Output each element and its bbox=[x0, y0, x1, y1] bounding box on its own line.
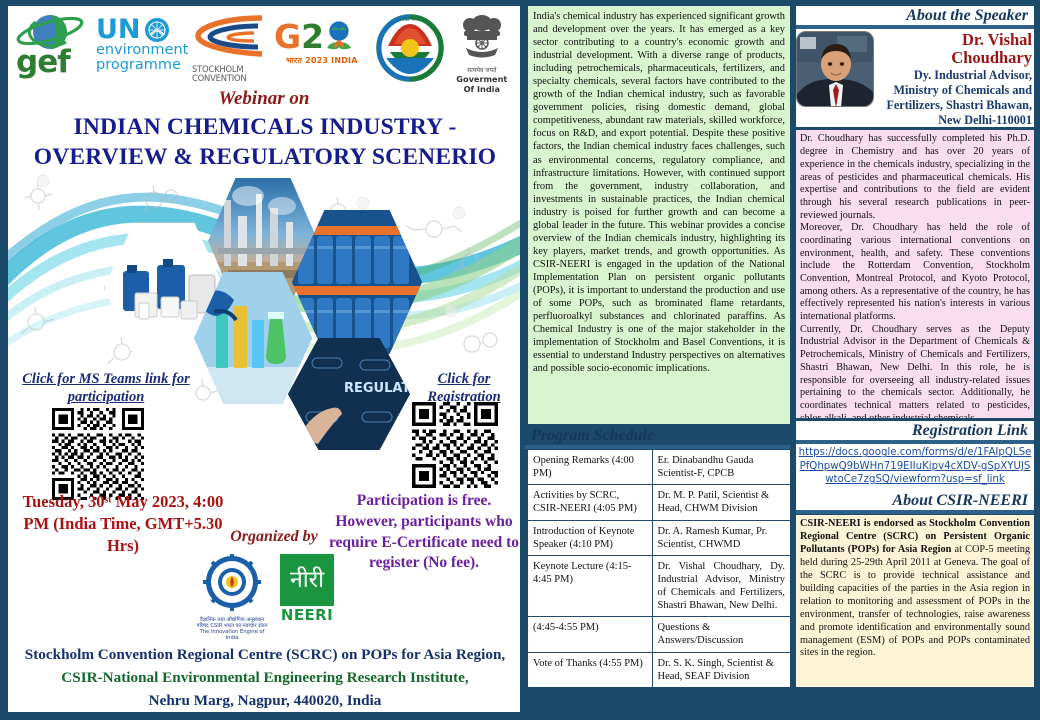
ministry-circular-emblem-icon: स्वच्छ भारत bbox=[374, 12, 446, 86]
program-schedule-table: Opening Remarks (4:00 PM) Er. Dinabandhu… bbox=[528, 450, 790, 687]
about-csir-neeri-heading: About CSIR-NEERI bbox=[796, 491, 1034, 513]
middle-column: India's chemical industry has experience… bbox=[528, 6, 790, 712]
un-emblem-icon bbox=[144, 17, 170, 43]
page-title: INDIAN CHEMICALS INDUSTRY - OVERVIEW & R… bbox=[26, 112, 504, 172]
schedule-time: Keynote Lecture (4:15-4:45 PM) bbox=[528, 555, 652, 617]
dot-icon bbox=[452, 206, 466, 220]
table-row: Activities by SCRC, CSIR-NEERI (4:05 PM)… bbox=[528, 485, 790, 520]
table-row: Introduction of Keynote Speaker (4:10 PM… bbox=[528, 520, 790, 555]
schedule-speaker: Questions & Answers/Discussion bbox=[652, 617, 790, 652]
unep-line3: programme bbox=[96, 58, 188, 73]
webinar-poster: gef UN environment programme bbox=[0, 0, 1040, 720]
left-panel: gef UN environment programme bbox=[8, 6, 520, 712]
speaker-role-3: Fertilizers, Shastri Bhawan, bbox=[880, 98, 1032, 113]
csir-gear-emblem-icon bbox=[198, 554, 266, 612]
stockholm-swirl-icon bbox=[192, 14, 270, 60]
address-line-2: CSIR-National Environmental Engineering … bbox=[22, 667, 508, 690]
schedule-time: Opening Remarks (4:00 PM) bbox=[528, 450, 652, 485]
g20-lotus-icon bbox=[321, 18, 357, 54]
schedule-speaker: Dr. Vishal Choudhary, Dy. Industrial Adv… bbox=[652, 555, 790, 617]
speaker-bio-paragraph-1: Dr. Choudhary has successfully completed… bbox=[800, 133, 1030, 222]
table-row: (4:45-4:55 PM) Questions & Answers/Discu… bbox=[528, 617, 790, 652]
speaker-header-block: Dr. Vishal Choudhary Dy. Industrial Advi… bbox=[796, 28, 1034, 127]
unep-logo: UN environment programme bbox=[96, 10, 188, 86]
schedule-time: Introduction of Keynote Speaker (4:10 PM… bbox=[528, 520, 652, 555]
speaker-bio-paragraph-3: Currently, Dr. Choudhary serves as the D… bbox=[800, 324, 1030, 419]
svg-text:REGULATION: REGULATION bbox=[344, 381, 410, 396]
schedule-speaker: Dr. A. Ramesh Kumar, Pr. Scientist, CHWM… bbox=[652, 520, 790, 555]
address-line-3: Nehru Marg, Nagpur, 440020, India bbox=[22, 690, 508, 712]
gef-wordmark: gef bbox=[16, 44, 70, 80]
about-speaker-heading: About the Speaker bbox=[796, 6, 1034, 28]
qr-code-registration[interactable] bbox=[412, 402, 498, 493]
table-row: Opening Remarks (4:00 PM) Er. Dinabandhu… bbox=[528, 450, 790, 485]
about-industry-text: India's chemical industry has experience… bbox=[528, 6, 790, 424]
ashoka-lion-capital-icon bbox=[456, 12, 508, 66]
schedule-time: (4:45-4:55 PM) bbox=[528, 617, 652, 652]
speaker-role-2: Ministry of Chemicals and bbox=[880, 83, 1032, 98]
logo-row: gef UN environment programme bbox=[14, 10, 514, 92]
stockholm-line2: CONVENTION bbox=[192, 74, 270, 83]
speaker-bio-paragraph-2: Moreover, Dr. Choudhary has held the rol… bbox=[800, 222, 1030, 324]
speaker-biography: Dr. Choudhary has successfully completed… bbox=[796, 130, 1034, 418]
schedule-speaker: Dr. M. P. Patil, Scientist & Head, CHWM … bbox=[652, 485, 790, 520]
speaker-role-4: New Delhi-110001 bbox=[880, 113, 1032, 128]
speaker-role-1: Dy. Industrial Advisor, bbox=[880, 68, 1032, 83]
program-schedule-header: Program Schedule bbox=[525, 426, 790, 448]
unep-un-text: UN bbox=[96, 16, 141, 43]
schedule-speaker: Dr. S. K. Singh, Scientist & Head, SEAF … bbox=[652, 652, 790, 687]
molecule-doodle-icon bbox=[456, 326, 506, 364]
g20-logo: G2 भारत 2023 INDIA bbox=[274, 10, 370, 84]
address-line-1: Stockholm Convention Regional Centre (SC… bbox=[22, 644, 508, 667]
ministry-emblem-logo: स्वच्छ भारत bbox=[374, 10, 446, 86]
speaker-photo bbox=[796, 31, 874, 107]
image-collage: REGULATION bbox=[104, 182, 434, 402]
ms-teams-link[interactable]: Click for MS Teams link for participatio… bbox=[22, 370, 190, 406]
organizer-address: Stockholm Convention Regional Centre (SC… bbox=[22, 644, 508, 712]
table-row: Vote of Thanks (4:55 PM) Dr. S. K. Singh… bbox=[528, 652, 790, 687]
neeri-logo: नीरी NEERI bbox=[276, 554, 338, 624]
g20-subtext: भारत 2023 INDIA bbox=[274, 55, 370, 66]
table-row: Keynote Lecture (4:15-4:45 PM) Dr. Visha… bbox=[528, 555, 790, 617]
event-date-time: Tuesday, 30ˢᵗ May 2023, 4:00 PM (India T… bbox=[20, 491, 226, 557]
organized-by-label: Organized by bbox=[186, 528, 362, 546]
registration-link-label[interactable]: Click for Registration bbox=[412, 370, 516, 406]
schedule-time: Vote of Thanks (4:55 PM) bbox=[528, 652, 652, 687]
csir-caption: वैज्ञानिक तथा औद्योगिक अनुसंधान परिषद CS… bbox=[196, 618, 268, 642]
schedule-time: Activities by SCRC, CSIR-NEERI (4:05 PM) bbox=[528, 485, 652, 520]
speaker-details: Dr. Vishal Choudhary Dy. Industrial Advi… bbox=[880, 31, 1034, 127]
registration-link-heading: Registration Link bbox=[796, 421, 1034, 443]
schedule-speaker: Er. Dinabandhu Gauda Scientist-F, CPCB bbox=[652, 450, 790, 485]
neeri-rest-text: at COP-5 meeting held during 25-29th Apr… bbox=[800, 544, 1030, 659]
neeri-wordmark: NEERI bbox=[276, 606, 338, 624]
molecule-doodle-icon bbox=[448, 246, 494, 280]
gef-logo: gef bbox=[14, 10, 92, 82]
dot-icon bbox=[444, 304, 458, 318]
webinar-on-label: Webinar on bbox=[8, 88, 520, 110]
molecule-doodle-icon bbox=[18, 306, 58, 338]
organizer-logos: वैज्ञानिक तथा औद्योगिक अनुसंधान परिषद CS… bbox=[196, 554, 352, 632]
molecule-doodle-icon bbox=[24, 182, 58, 212]
right-column: About the Speaker bbox=[796, 6, 1034, 712]
program-schedule-heading: Program Schedule bbox=[525, 426, 790, 448]
registration-url[interactable]: https://docs.google.com/forms/d/e/1FAIpQ… bbox=[796, 443, 1034, 490]
dot-icon bbox=[36, 174, 50, 188]
government-of-india-logo: सत्यमेव जयते Goverment Of India bbox=[450, 10, 514, 86]
svg-text:स्वच्छ भारत: स्वच्छ भारत bbox=[399, 17, 421, 23]
collage-regulation-image: REGULATION bbox=[288, 338, 410, 450]
csir-logo: वैज्ञानिक तथा औद्योगिक अनुसंधान परिषद CS… bbox=[196, 554, 268, 642]
speaker-name: Dr. Vishal Choudhary bbox=[880, 31, 1032, 68]
stockholm-convention-logo: STOCKHOLM CONVENTION bbox=[192, 10, 270, 80]
about-csir-neeri-text: CSIR-NEERI is endorsed as Stockholm Conv… bbox=[796, 515, 1034, 687]
goi-hindi-text: सत्यमेव जयते bbox=[450, 66, 514, 74]
neeri-hindi-mark: नीरी bbox=[280, 554, 334, 606]
unep-line2: environment bbox=[96, 43, 188, 58]
